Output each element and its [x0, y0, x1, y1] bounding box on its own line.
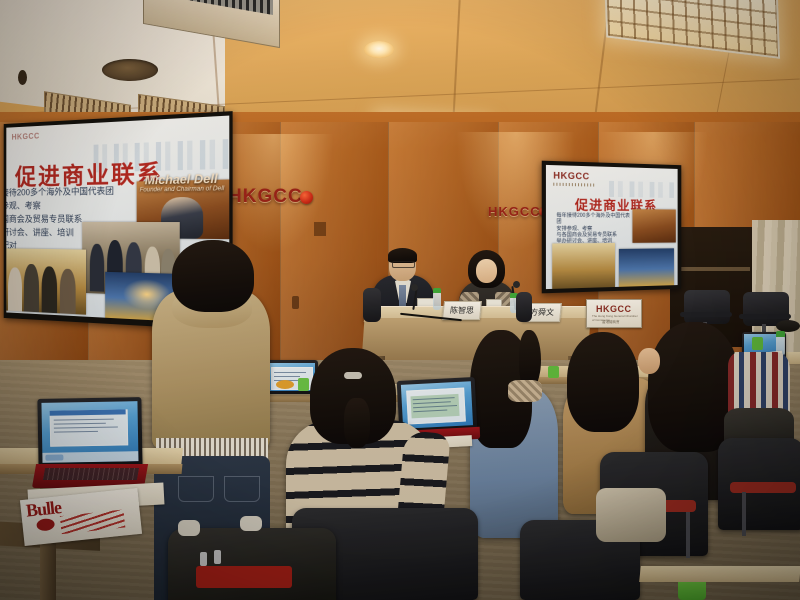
laptop-red-keyboard — [43, 468, 139, 480]
attendee-striped-hair-tie — [344, 372, 362, 379]
green-cup-center — [548, 366, 559, 378]
slide-photo-reception — [6, 248, 86, 314]
reception-figure — [24, 264, 39, 312]
attendee-standing-khaki-hair — [172, 240, 254, 312]
wall-door-handle — [292, 296, 299, 309]
back-shelf-edge — [672, 267, 750, 271]
slide-caption-dell-name: Michael Dell — [145, 171, 218, 187]
audience-chair-right-2-leg — [742, 492, 746, 536]
laptop-red-taskbar-button — [45, 454, 63, 460]
slide-logo-right-underline — [553, 183, 596, 187]
magazine-cover-swatch — [36, 518, 55, 532]
microphone-left-head — [411, 284, 418, 291]
slide-photo-reception — [552, 243, 615, 289]
slide-photo-panel-session — [619, 248, 674, 287]
office-chair-back-1 — [684, 290, 730, 324]
office-chair-back-2-arm — [739, 314, 791, 319]
attendee-tan-leather-hair — [567, 332, 639, 432]
attendee-black-leather-face — [638, 348, 660, 374]
green-cup-left — [298, 378, 309, 391]
reception-figure — [8, 267, 22, 311]
placard-brand: HKGCC — [596, 304, 632, 314]
laptop-red — [37, 397, 142, 471]
attendee-striped-ponytail — [344, 398, 370, 448]
audience-chair-right-1-leg — [686, 512, 690, 558]
recessed-downlight — [364, 41, 394, 58]
foreground-desk-bottom-right — [639, 566, 800, 582]
hkgcc-placard: HKGCC The Hong Kong General Chamber of C… — [586, 299, 642, 328]
projector-screen-right: HKGCC 促进商业联系 每年接待200多个海外及中国代表团 安排参观、考察 与… — [546, 165, 678, 289]
slide-bullet-item: 每年接待200多个海外及中国代表团 — [556, 213, 630, 226]
laptop-far-text-line — [274, 376, 300, 377]
water-bottle-desk-right-cap — [776, 331, 785, 337]
laptop-dark-screen — [401, 381, 473, 429]
speaker-female-face — [476, 259, 497, 283]
placard-subtitle-cn: 香港總商會 — [602, 320, 620, 325]
speaker-chair-right — [516, 292, 532, 322]
slide-logo-left: HKGCC — [12, 132, 40, 142]
reception-figure — [42, 266, 57, 313]
slide-logo-right: HKGCC — [553, 170, 589, 181]
backpack-strap — [240, 516, 262, 531]
speaker-male-glasses — [392, 261, 415, 268]
magazine-cover-lines — [60, 510, 126, 535]
backpack-zipper-pull — [214, 550, 221, 564]
projector-screen-right-frame: HKGCC 促进商业联系 每年接待200多个海外及中国代表团 安排参观、考察 与… — [542, 161, 682, 294]
slide-caption-dell-role: Founder and Chairman of Dell — [140, 186, 225, 194]
orange-item-on-desk — [276, 380, 294, 389]
grid-light-panel — [604, 0, 780, 59]
conference-room-photo: HKGCC HKGCC HKGCC 促进商业联系 每年接待200多个海外及中国代… — [0, 0, 800, 600]
handbag-on-chair — [596, 488, 666, 542]
office-chair-back-1-arm — [680, 312, 732, 317]
microphone-right-head — [513, 281, 520, 288]
attendee-standing-khaki-pocket — [178, 476, 214, 502]
water-bottle-left — [433, 292, 441, 310]
audience-chair-right-2-seat — [730, 482, 796, 493]
wall-logo-right-text: HKGCC — [488, 204, 541, 219]
slide-bullet-item: 安排参观、考察 — [6, 197, 158, 212]
delegation-figure — [90, 244, 104, 292]
reception-figure — [60, 269, 76, 315]
backpack-zipper-pull — [200, 552, 207, 566]
nameplate-right-text: 方舜文 — [529, 307, 554, 318]
backpack-black — [168, 528, 336, 600]
speaker-chair-left — [363, 288, 381, 322]
backpack-strap — [178, 520, 200, 536]
smoke-detector — [18, 70, 27, 85]
nameplate-left-text: 陈智思 — [449, 305, 474, 316]
ceiling-speaker — [102, 59, 158, 81]
wall-logo-right: HKGCC — [488, 204, 548, 219]
attendee-standing-khaki-pocket — [224, 476, 260, 502]
hkgcc-orb-icon — [300, 191, 313, 204]
wall-access-plate — [314, 222, 326, 236]
laptop-far-text-line — [274, 372, 306, 373]
slide-photo-michael-dell — [632, 209, 675, 243]
attendee-blue-dress-collar — [508, 380, 542, 402]
wall-logo-left-text: HKGCC — [228, 186, 303, 208]
green-cup-right — [752, 337, 763, 350]
laptop-red-screen — [41, 401, 138, 463]
speaker-male-tie — [399, 285, 406, 307]
water-bottle-left-cap — [433, 288, 441, 293]
wall-logo-left: HKGCC — [228, 186, 313, 208]
backpack-red-lining — [196, 566, 292, 588]
